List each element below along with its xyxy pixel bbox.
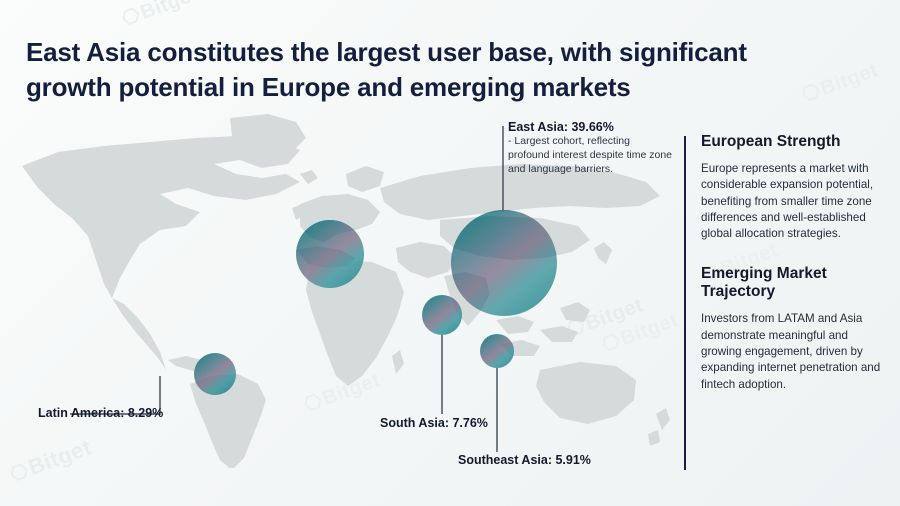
panel-heading-emerging-market-trajectory: Emerging Market Trajectory	[701, 265, 886, 302]
slide-canvas: ⎔Bitget ⎔Bitget ⎔Bitget ⎔Bitget ⎔Bitget …	[0, 0, 900, 506]
panel-body-european-strength: Europe represents a market with consider…	[701, 161, 886, 243]
callout-latin-america-title: Latin America: 8.29%	[38, 406, 163, 420]
panel-body-emerging-market-trajectory: Investors from LATAM and Asia demonstrat…	[701, 311, 886, 393]
callout-east-asia: East Asia: 39.66% - Largest cohort, refl…	[508, 120, 673, 177]
page-title-line-1: East Asia constitutes the largest user b…	[26, 37, 747, 67]
panel-heading-european-strength: European Strength	[701, 133, 886, 152]
world-map-panel: East Asia: 39.66% - Largest cohort, refl…	[0, 108, 690, 468]
page-title-line-2: growth potential in Europe and emerging …	[26, 70, 866, 105]
bubble-southeast-asia[interactable]	[480, 334, 514, 368]
bitget-logo-icon: ⎔	[118, 2, 143, 32]
watermark: ⎔Bitget	[118, 0, 201, 32]
bubble-east-asia[interactable]	[451, 210, 557, 316]
bubble-latin-america[interactable]	[194, 353, 236, 395]
callout-east-asia-title: East Asia: 39.66%	[508, 120, 673, 134]
callout-south-asia-title: South Asia: 7.76%	[380, 416, 488, 430]
callout-southeast-asia-title: Southeast Asia: 5.91%	[458, 453, 591, 467]
bubble-europe[interactable]	[296, 220, 364, 288]
vertical-divider	[684, 136, 686, 470]
insights-panel: European Strength Europe represents a ma…	[701, 133, 886, 393]
page-title: East Asia constitutes the largest user b…	[26, 35, 866, 104]
bubble-south-asia[interactable]	[422, 295, 462, 335]
callout-east-asia-detail: - Largest cohort, reflecting profound in…	[508, 135, 673, 177]
